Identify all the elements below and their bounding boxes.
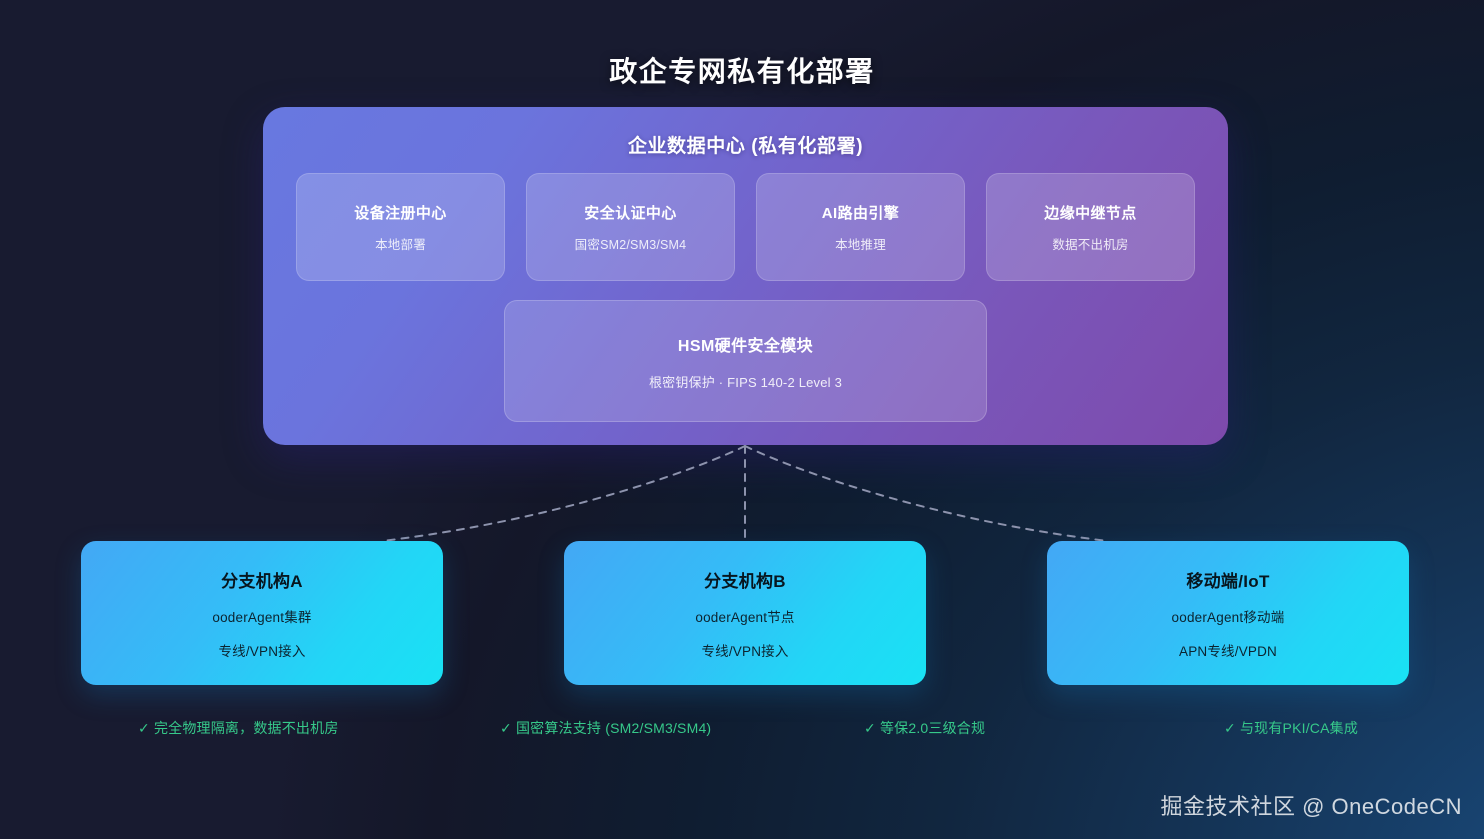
- check-icon: ✓: [500, 720, 512, 736]
- page-title: 政企专网私有化部署: [0, 50, 1484, 90]
- card-subtitle: 国密SM2/SM3/SM4: [575, 234, 687, 253]
- branch-row: 分支机构A ooderAgent集群 专线/VPN接入 分支机构B ooderA…: [0, 541, 1484, 685]
- feature-label: 等保2.0三级合规: [880, 720, 985, 736]
- connector-to-branch-a: [382, 446, 745, 541]
- card-title: 设备注册中心: [354, 202, 446, 223]
- branch-subtitle-secondary: APN专线/VPDN: [1179, 640, 1277, 660]
- card-title: 安全认证中心: [584, 202, 676, 223]
- datacenter-card-device-registry[interactable]: 设备注册中心 本地部署: [296, 173, 505, 281]
- branch-box-a[interactable]: 分支机构A ooderAgent集群 专线/VPN接入: [81, 541, 443, 685]
- feature-note-pki-ca-integration: ✓与现有PKI/CA集成: [1224, 718, 1358, 738]
- enterprise-datacenter-panel: 企业数据中心 (私有化部署) 设备注册中心 本地部署 安全认证中心 国密SM2/…: [263, 107, 1228, 445]
- branch-subtitle-primary: ooderAgent节点: [695, 606, 794, 626]
- feature-note-row: ✓完全物理隔离，数据不出机房 ✓国密算法支持 (SM2/SM3/SM4) ✓等保…: [0, 718, 1484, 744]
- feature-note-physical-isolation: ✓完全物理隔离，数据不出机房: [138, 718, 339, 738]
- card-title: 边缘中继节点: [1044, 202, 1136, 223]
- branch-subtitle-secondary: 专线/VPN接入: [701, 640, 788, 660]
- branch-box-b[interactable]: 分支机构B ooderAgent节点 专线/VPN接入: [564, 541, 926, 685]
- branch-title: 移动端/IoT: [1186, 567, 1269, 592]
- branch-subtitle-primary: ooderAgent集群: [212, 606, 311, 626]
- card-subtitle: 数据不出机房: [1052, 234, 1128, 253]
- connector-lines: [0, 440, 1484, 550]
- check-icon: ✓: [138, 720, 150, 736]
- branch-title: 分支机构A: [221, 567, 303, 592]
- branch-title: 分支机构B: [704, 567, 786, 592]
- datacenter-card-edge-relay[interactable]: 边缘中继节点 数据不出机房: [986, 173, 1195, 281]
- datacenter-card-ai-routing[interactable]: AI路由引擎 本地推理: [756, 173, 965, 281]
- feature-label: 完全物理隔离，数据不出机房: [154, 720, 339, 736]
- feature-label: 国密算法支持 (SM2/SM3/SM4): [516, 720, 711, 736]
- watermark: 掘金技术社区 @ OneCodeCN: [1160, 789, 1462, 821]
- check-icon: ✓: [864, 720, 876, 736]
- feature-note-mlps-compliance: ✓等保2.0三级合规: [864, 718, 985, 738]
- diagram-canvas: 政企专网私有化部署 企业数据中心 (私有化部署) 设备注册中心 本地部署 安全认…: [0, 0, 1484, 839]
- hsm-module-card[interactable]: HSM硬件安全模块 根密钥保护 · FIPS 140-2 Level 3: [504, 300, 987, 422]
- datacenter-card-security-auth[interactable]: 安全认证中心 国密SM2/SM3/SM4: [526, 173, 735, 281]
- datacenter-title: 企业数据中心 (私有化部署): [263, 131, 1228, 158]
- check-icon: ✓: [1224, 720, 1236, 736]
- card-subtitle: 本地部署: [375, 234, 426, 253]
- hsm-subtitle: 根密钥保护 · FIPS 140-2 Level 3: [649, 372, 842, 391]
- branch-box-mobile-iot[interactable]: 移动端/IoT ooderAgent移动端 APN专线/VPDN: [1047, 541, 1409, 685]
- card-title: AI路由引擎: [822, 202, 899, 223]
- hsm-title: HSM硬件安全模块: [678, 332, 813, 356]
- connector-to-branch-iot: [745, 446, 1108, 541]
- card-subtitle: 本地推理: [835, 234, 886, 253]
- datacenter-card-row: 设备注册中心 本地部署 安全认证中心 国密SM2/SM3/SM4 AI路由引擎 …: [296, 173, 1195, 281]
- feature-label: 与现有PKI/CA集成: [1240, 720, 1358, 736]
- feature-note-sm-crypto: ✓国密算法支持 (SM2/SM3/SM4): [500, 718, 711, 738]
- branch-subtitle-secondary: 专线/VPN接入: [218, 640, 305, 660]
- branch-subtitle-primary: ooderAgent移动端: [1172, 606, 1285, 626]
